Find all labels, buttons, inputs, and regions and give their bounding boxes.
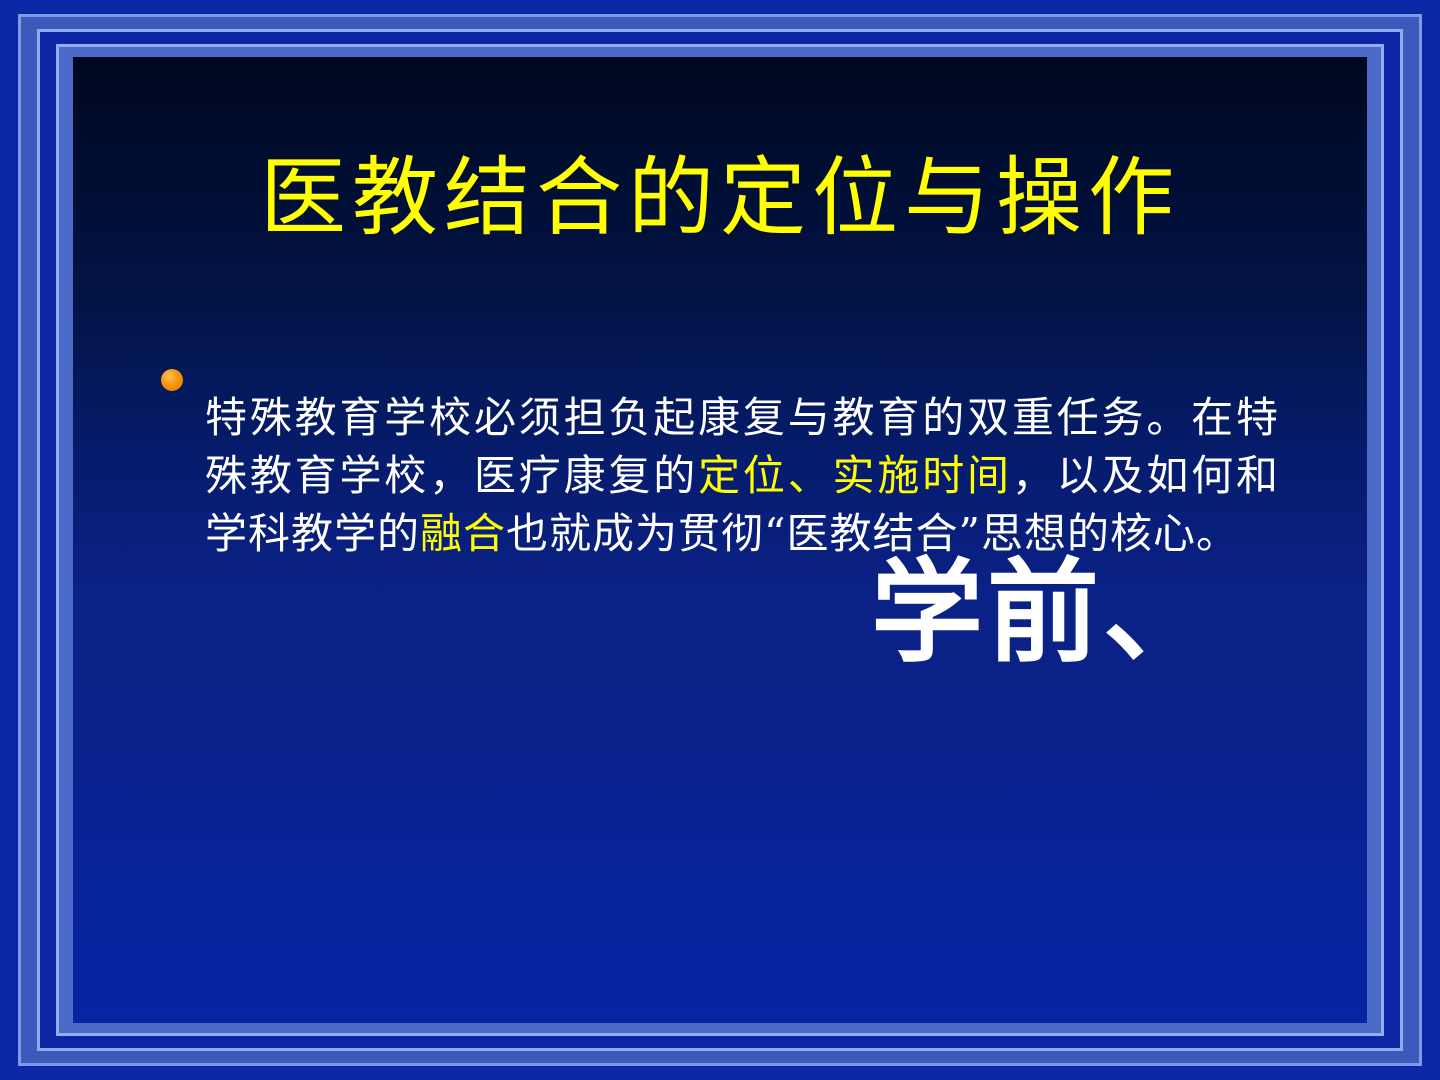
slide-frame-outer: 医教结合的定位与操作 特殊教育学校必须担负起康复与教育的双重任务。在特殊教育学校… — [18, 14, 1422, 1066]
slide-frame-inner: 医教结合的定位与操作 特殊教育学校必须担负起康复与教育的双重任务。在特殊教育学校… — [56, 44, 1384, 1036]
bullet-segment-highlight-1: 定位、实施时间 — [698, 451, 1012, 500]
slide-title: 医教结合的定位与操作 — [73, 153, 1367, 243]
bullet-item-text: 特殊教育学校必须担负起康复与教育的双重任务。在特殊教育学校，医疗康复的定位、实施… — [205, 389, 1279, 563]
slide-root: 医教结合的定位与操作 特殊教育学校必须担负起康复与教育的双重任务。在特殊教育学校… — [0, 0, 1440, 1080]
emphasis-text: 学前、 — [871, 549, 1219, 678]
slide-content-area: 医教结合的定位与操作 特殊教育学校必须担负起康复与教育的双重任务。在特殊教育学校… — [73, 57, 1367, 1023]
slide-frame-middle: 医教结合的定位与操作 特殊教育学校必须担负起康复与教育的双重任务。在特殊教育学校… — [37, 29, 1403, 1051]
filled-circle-bullet-icon — [161, 369, 183, 391]
bullet-segment-highlight-2: 融合 — [420, 509, 506, 558]
